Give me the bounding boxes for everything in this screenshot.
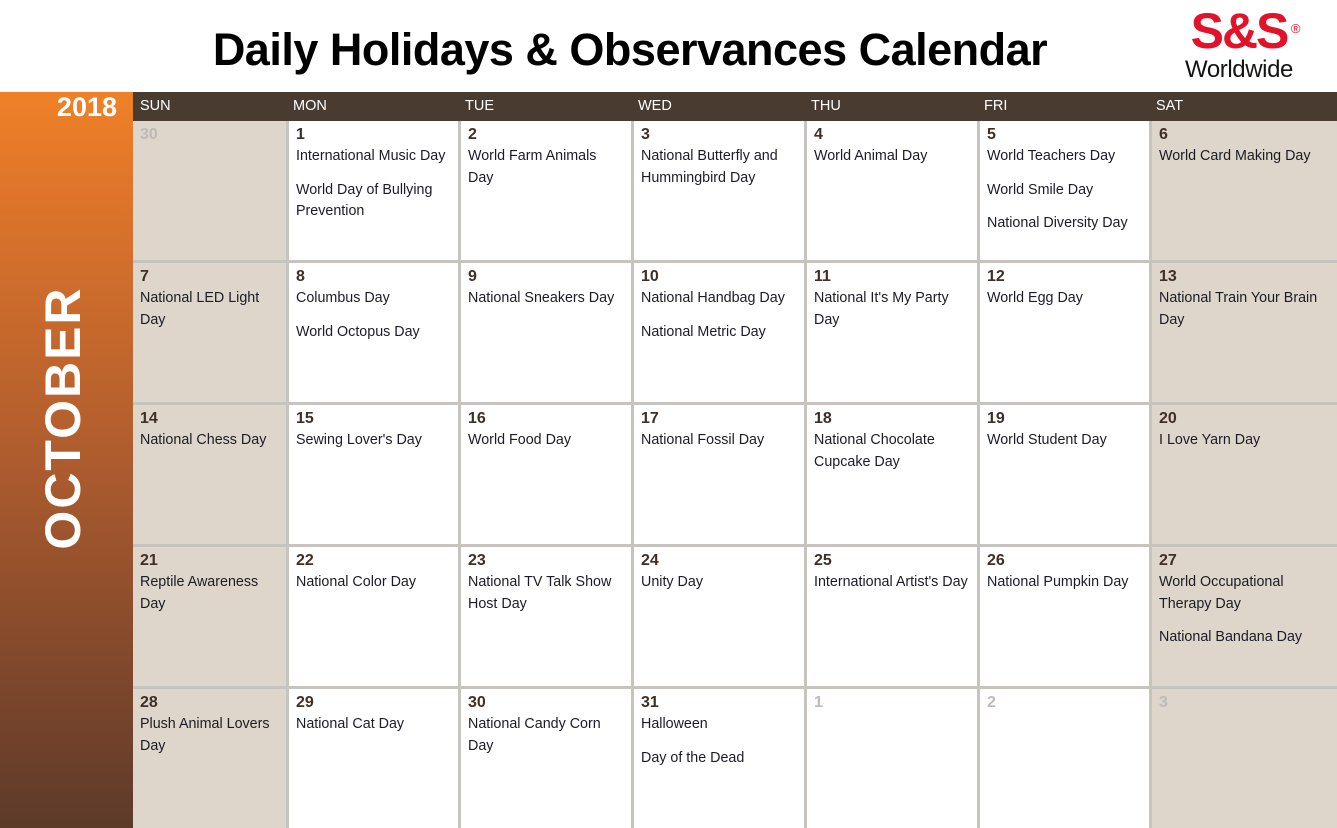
day-cell-sun-7[interactable]: 7National LED Light Day: [133, 263, 286, 402]
day-number: 21: [140, 551, 280, 570]
day-number: 23: [468, 551, 625, 570]
event-list: National TV Talk Show Host Day: [468, 572, 625, 615]
day-number: 2: [987, 693, 1143, 712]
day-number: 24: [641, 551, 798, 570]
event-item: National Fossil Day: [641, 430, 798, 452]
page-title: Daily Holidays & Observances Calendar: [0, 24, 1260, 76]
event-item: World Card Making Day: [1159, 146, 1331, 168]
event-item: National Butterfly and Hummingbird Day: [641, 146, 798, 189]
day-cell-thu-25[interactable]: 25International Artist's Day: [804, 547, 977, 686]
event-item: International Artist's Day: [814, 572, 971, 594]
day-header-wed: WED: [631, 92, 804, 121]
day-number: 28: [140, 693, 280, 712]
day-number: 27: [1159, 551, 1331, 570]
day-cell-mon-8[interactable]: 8Columbus DayWorld Octopus Day: [286, 263, 458, 402]
event-list: National Sneakers Day: [468, 288, 625, 310]
day-cell-tue-16[interactable]: 16World Food Day: [458, 405, 631, 544]
day-number: 2: [468, 125, 625, 144]
event-item: National Sneakers Day: [468, 288, 625, 310]
event-item: World Octopus Day: [296, 322, 452, 344]
event-item: National LED Light Day: [140, 288, 280, 331]
day-cell-fri-19[interactable]: 19World Student Day: [977, 405, 1149, 544]
event-list: National Candy Corn Day: [468, 714, 625, 757]
day-number: 7: [140, 267, 280, 286]
day-cell-fri-12[interactable]: 12World Egg Day: [977, 263, 1149, 402]
event-list: Reptile Awareness Day: [140, 572, 280, 615]
event-item: Sewing Lover's Day: [296, 430, 452, 452]
event-item: World Student Day: [987, 430, 1143, 452]
day-cell-sat-20[interactable]: 20I Love Yarn Day: [1149, 405, 1337, 544]
day-cell-mon-15[interactable]: 15Sewing Lover's Day: [286, 405, 458, 544]
event-list: World Occupational Therapy DayNational B…: [1159, 572, 1331, 649]
event-list: National LED Light Day: [140, 288, 280, 331]
day-number: 11: [814, 267, 971, 286]
event-item: Columbus Day: [296, 288, 452, 310]
day-cell-fri-5[interactable]: 5World Teachers DayWorld Smile DayNation…: [977, 121, 1149, 260]
day-number: 14: [140, 409, 280, 428]
event-list: World Animal Day: [814, 146, 971, 168]
event-item: National Handbag Day: [641, 288, 798, 310]
day-header-thu: THU: [804, 92, 977, 121]
day-cell-sat-3[interactable]: 3: [1149, 689, 1337, 828]
day-number: 12: [987, 267, 1143, 286]
day-number: 8: [296, 267, 452, 286]
day-cell-sun-30[interactable]: 30: [133, 121, 286, 260]
event-list: National It's My Party Day: [814, 288, 971, 331]
month-label: OCTOBER: [35, 168, 91, 668]
event-item: World Farm Animals Day: [468, 146, 625, 189]
day-cell-fri-2[interactable]: 2: [977, 689, 1149, 828]
logo-mark-text: S&S: [1191, 3, 1288, 59]
event-list: National Color Day: [296, 572, 452, 594]
day-of-week-header-row: SUN MON TUE WED THU FRI SAT: [133, 92, 1337, 121]
day-cell-wed-31[interactable]: 31HalloweenDay of the Dead: [631, 689, 804, 828]
year-label: 2018: [0, 92, 133, 122]
event-item: National Metric Day: [641, 322, 798, 344]
event-list: National Cat Day: [296, 714, 452, 736]
day-cell-tue-30[interactable]: 30National Candy Corn Day: [458, 689, 631, 828]
day-number: 25: [814, 551, 971, 570]
day-number: 3: [1159, 693, 1331, 712]
event-list: National Fossil Day: [641, 430, 798, 452]
event-item: National TV Talk Show Host Day: [468, 572, 625, 615]
event-item: Day of the Dead: [641, 748, 798, 770]
event-item: National Chess Day: [140, 430, 280, 452]
event-list: National Train Your Brain Day: [1159, 288, 1331, 331]
calendar-week-row: 7National LED Light Day8Columbus DayWorl…: [133, 260, 1337, 402]
event-item: World Animal Day: [814, 146, 971, 168]
day-number: 26: [987, 551, 1143, 570]
day-number: 10: [641, 267, 798, 286]
event-item: National It's My Party Day: [814, 288, 971, 331]
day-number: 1: [814, 693, 971, 712]
day-cell-sat-6[interactable]: 6World Card Making Day: [1149, 121, 1337, 260]
event-list: I Love Yarn Day: [1159, 430, 1331, 452]
event-list: Plush Animal Lovers Day: [140, 714, 280, 757]
calendar-week-row: 28Plush Animal Lovers Day29National Cat …: [133, 686, 1337, 828]
event-item: International Music Day: [296, 146, 452, 168]
event-item: I Love Yarn Day: [1159, 430, 1331, 452]
event-list: International Music DayWorld Day of Bull…: [296, 146, 452, 223]
registered-trademark-icon: ®: [1291, 4, 1299, 54]
event-list: World Farm Animals Day: [468, 146, 625, 189]
day-number: 29: [296, 693, 452, 712]
day-cell-mon-29[interactable]: 29National Cat Day: [286, 689, 458, 828]
day-number: 17: [641, 409, 798, 428]
event-list: Unity Day: [641, 572, 798, 594]
event-item: World Occupational Therapy Day: [1159, 572, 1331, 615]
day-number: 20: [1159, 409, 1331, 428]
event-item: Plush Animal Lovers Day: [140, 714, 280, 757]
calendar-week-row: 301International Music DayWorld Day of B…: [133, 121, 1337, 260]
day-cell-wed-17[interactable]: 17National Fossil Day: [631, 405, 804, 544]
day-cell-thu-1[interactable]: 1: [804, 689, 977, 828]
day-number: 1: [296, 125, 452, 144]
calendar-week-row: 14National Chess Day15Sewing Lover's Day…: [133, 402, 1337, 544]
day-number: 5: [987, 125, 1143, 144]
day-number: 18: [814, 409, 971, 428]
logo-subtitle: Worldwide: [1155, 57, 1323, 83]
event-item: National Pumpkin Day: [987, 572, 1143, 594]
day-number: 13: [1159, 267, 1331, 286]
day-number: 22: [296, 551, 452, 570]
month-rail: 2018 OCTOBER: [0, 92, 133, 828]
event-item: World Egg Day: [987, 288, 1143, 310]
day-cell-tue-9[interactable]: 9National Sneakers Day: [458, 263, 631, 402]
event-list: International Artist's Day: [814, 572, 971, 594]
title-bar: Daily Holidays & Observances Calendar S&…: [0, 0, 1337, 92]
event-list: Sewing Lover's Day: [296, 430, 452, 452]
day-cell-sun-21[interactable]: 21Reptile Awareness Day: [133, 547, 286, 686]
event-list: World Egg Day: [987, 288, 1143, 310]
event-list: World Teachers DayWorld Smile DayNationa…: [987, 146, 1143, 235]
day-number: 6: [1159, 125, 1331, 144]
calendar-week-row: 21Reptile Awareness Day22National Color …: [133, 544, 1337, 686]
day-cell-fri-26[interactable]: 26National Pumpkin Day: [977, 547, 1149, 686]
event-item: National Train Your Brain Day: [1159, 288, 1331, 331]
event-list: National Chess Day: [140, 430, 280, 452]
event-list: HalloweenDay of the Dead: [641, 714, 798, 769]
event-item: National Candy Corn Day: [468, 714, 625, 757]
event-item: National Bandana Day: [1159, 627, 1331, 649]
day-cell-thu-11[interactable]: 11National It's My Party Day: [804, 263, 977, 402]
day-cell-tue-23[interactable]: 23National TV Talk Show Host Day: [458, 547, 631, 686]
event-list: National Butterfly and Hummingbird Day: [641, 146, 798, 189]
logo-wordmark: S&S®: [1191, 6, 1288, 56]
day-cell-mon-22[interactable]: 22National Color Day: [286, 547, 458, 686]
event-item: World Smile Day: [987, 180, 1143, 202]
event-item: Unity Day: [641, 572, 798, 594]
day-cell-thu-4[interactable]: 4World Animal Day: [804, 121, 977, 260]
brand-logo: S&S® Worldwide: [1155, 6, 1323, 86]
day-cell-sat-13[interactable]: 13National Train Your Brain Day: [1149, 263, 1337, 402]
event-item: Reptile Awareness Day: [140, 572, 280, 615]
event-item: Halloween: [641, 714, 798, 736]
day-number: 4: [814, 125, 971, 144]
day-cell-thu-18[interactable]: 18National Chocolate Cupcake Day: [804, 405, 977, 544]
day-number: 9: [468, 267, 625, 286]
calendar-grid: SUN MON TUE WED THU FRI SAT 301Internati…: [133, 92, 1337, 828]
day-cell-wed-24[interactable]: 24Unity Day: [631, 547, 804, 686]
day-cell-sat-27[interactable]: 27World Occupational Therapy DayNational…: [1149, 547, 1337, 686]
day-header-mon: MON: [286, 92, 458, 121]
event-item: National Chocolate Cupcake Day: [814, 430, 971, 473]
event-item: National Cat Day: [296, 714, 452, 736]
event-item: World Teachers Day: [987, 146, 1143, 168]
calendar-page: Daily Holidays & Observances Calendar S&…: [0, 0, 1337, 828]
event-list: World Student Day: [987, 430, 1143, 452]
day-cell-wed-3[interactable]: 3National Butterfly and Hummingbird Day: [631, 121, 804, 260]
day-number: 16: [468, 409, 625, 428]
event-item: National Color Day: [296, 572, 452, 594]
day-number: 15: [296, 409, 452, 428]
day-number: 31: [641, 693, 798, 712]
event-item: World Day of Bullying Prevention: [296, 180, 452, 223]
day-cell-tue-2[interactable]: 2World Farm Animals Day: [458, 121, 631, 260]
day-header-fri: FRI: [977, 92, 1149, 121]
calendar-weeks: 301International Music DayWorld Day of B…: [133, 121, 1337, 828]
event-list: National Handbag DayNational Metric Day: [641, 288, 798, 343]
day-number: 30: [140, 125, 280, 144]
day-header-sat: SAT: [1149, 92, 1337, 121]
day-cell-sun-28[interactable]: 28Plush Animal Lovers Day: [133, 689, 286, 828]
day-cell-wed-10[interactable]: 10National Handbag DayNational Metric Da…: [631, 263, 804, 402]
day-cell-sun-14[interactable]: 14National Chess Day: [133, 405, 286, 544]
event-list: World Card Making Day: [1159, 146, 1331, 168]
event-list: National Chocolate Cupcake Day: [814, 430, 971, 473]
event-list: National Pumpkin Day: [987, 572, 1143, 594]
day-number: 30: [468, 693, 625, 712]
day-number: 3: [641, 125, 798, 144]
day-header-sun: SUN: [133, 92, 286, 121]
day-header-tue: TUE: [458, 92, 631, 121]
event-list: Columbus DayWorld Octopus Day: [296, 288, 452, 343]
day-number: 19: [987, 409, 1143, 428]
event-item: World Food Day: [468, 430, 625, 452]
event-item: National Diversity Day: [987, 213, 1143, 235]
day-cell-mon-1[interactable]: 1International Music DayWorld Day of Bul…: [286, 121, 458, 260]
event-list: World Food Day: [468, 430, 625, 452]
